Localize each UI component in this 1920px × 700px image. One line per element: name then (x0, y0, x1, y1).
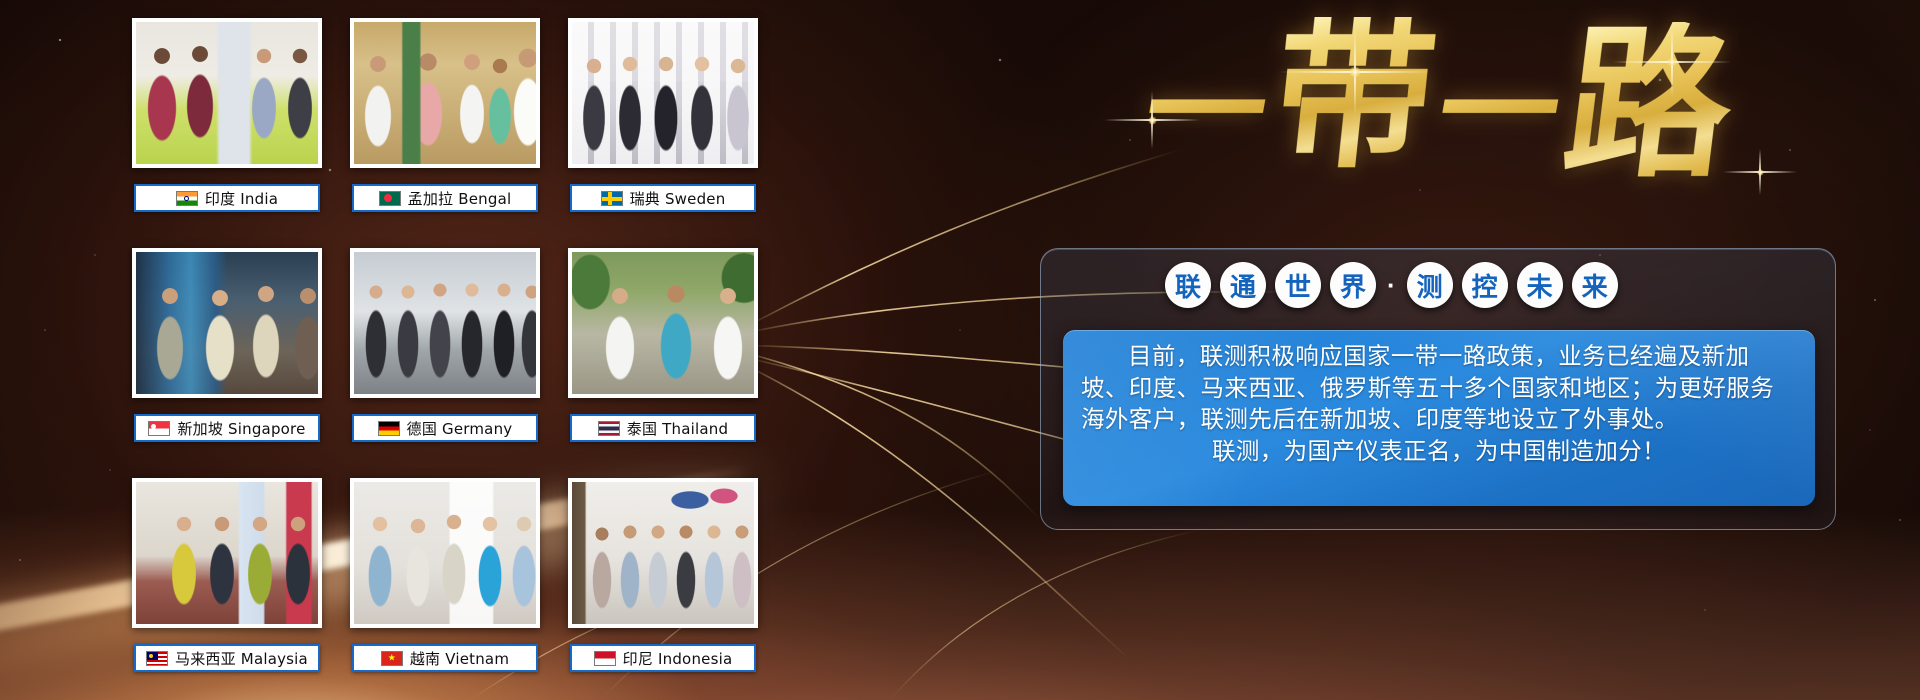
title-char-4: 路 (1556, 22, 1741, 187)
description-paragraph-2: 联测，为国产仪表正名，为中国制造加分！ (1081, 436, 1797, 468)
photo-singapore[interactable] (132, 248, 322, 398)
gallery-card[interactable]: 泰国 Thailand (568, 248, 758, 472)
country-label[interactable]: 瑞典 Sweden (570, 184, 756, 212)
photo-sweden[interactable] (568, 18, 758, 168)
country-label-text: 瑞典 Sweden (630, 188, 726, 209)
photo-malaysia[interactable] (132, 478, 322, 628)
country-label-text: 印度 India (205, 188, 278, 209)
slogan-char-6: 控 (1462, 262, 1508, 308)
flag-vietnam-icon: ★ (381, 651, 403, 666)
slogan-char-8: 来 (1572, 262, 1618, 308)
country-photo-grid: 印度 India 孟加拉 Bengal (132, 18, 758, 700)
description-paragraph-1: 目前，联测积极响应国家一带一路政策，业务已经遍及新加坡、印度、马来西亚、俄罗斯等… (1081, 341, 1797, 436)
country-label[interactable]: 泰国 Thailand (570, 414, 756, 442)
flag-malaysia-icon (146, 651, 168, 666)
gallery-card[interactable]: 印尼 Indonesia (568, 478, 758, 700)
slogan-char-3: 世 (1275, 262, 1321, 308)
country-label[interactable]: 马来西亚 Malaysia (134, 644, 320, 672)
country-label-text: 马来西亚 Malaysia (175, 648, 308, 669)
slogan-separator-dot: · (1385, 270, 1398, 301)
flag-thailand-icon (598, 421, 620, 436)
slogan-badges: 联 通 世 界 · 测 控 未 来 (1165, 262, 1618, 308)
gallery-card[interactable]: 孟加拉 Bengal (350, 18, 540, 242)
country-label-text: 泰国 Thailand (627, 418, 728, 439)
country-label[interactable]: 印度 India (134, 184, 320, 212)
country-label-text: 新加坡 Singapore (177, 418, 305, 439)
slogan-char-4: 界 (1330, 262, 1376, 308)
photo-vietnam[interactable] (350, 478, 540, 628)
country-label-text: 印尼 Indonesia (623, 648, 733, 669)
country-label[interactable]: 德国 Germany (352, 414, 538, 442)
flag-india-icon (176, 191, 198, 206)
photo-thailand[interactable] (568, 248, 758, 398)
title-char-1: 一 (1136, 53, 1277, 173)
slogan-char-1: 联 (1165, 262, 1211, 308)
flag-sweden-icon (601, 191, 623, 206)
photo-indonesia[interactable] (568, 478, 758, 628)
country-label-text: 越南 Vietnam (410, 648, 509, 669)
gallery-card[interactable]: 德国 Germany (350, 248, 540, 472)
gallery-card[interactable]: 印度 India (132, 18, 322, 242)
gallery-card[interactable]: 瑞典 Sweden (568, 18, 758, 242)
flag-singapore-icon (148, 421, 170, 436)
page-title: 一 带 一 路 (1040, 8, 1840, 193)
country-label-text: 孟加拉 Bengal (408, 188, 512, 209)
country-label[interactable]: ★ 越南 Vietnam (352, 644, 538, 672)
flag-germany-icon (378, 421, 400, 436)
photo-india[interactable] (132, 18, 322, 168)
country-label[interactable]: 新加坡 Singapore (134, 414, 320, 442)
slogan-char-5: 测 (1407, 262, 1453, 308)
flag-bangladesh-icon (379, 191, 401, 206)
banner-root: 印度 India 孟加拉 Bengal (0, 0, 1920, 700)
title-char-3: 一 (1428, 53, 1569, 173)
flag-indonesia-icon (594, 651, 616, 666)
photo-bengal[interactable] (350, 18, 540, 168)
photo-germany[interactable] (350, 248, 540, 398)
country-label[interactable]: 印尼 Indonesia (570, 644, 756, 672)
country-label-text: 德国 Germany (407, 418, 513, 439)
slogan-char-2: 通 (1220, 262, 1266, 308)
gallery-card[interactable]: 新加坡 Singapore (132, 248, 322, 472)
country-label[interactable]: 孟加拉 Bengal (352, 184, 538, 212)
title-char-2: 带 (1266, 17, 1443, 177)
gallery-card[interactable]: ★ 越南 Vietnam (350, 478, 540, 700)
slogan-char-7: 未 (1517, 262, 1563, 308)
gallery-card[interactable]: 马来西亚 Malaysia (132, 478, 322, 700)
description-box: 目前，联测积极响应国家一带一路政策，业务已经遍及新加坡、印度、马来西亚、俄罗斯等… (1063, 330, 1815, 506)
